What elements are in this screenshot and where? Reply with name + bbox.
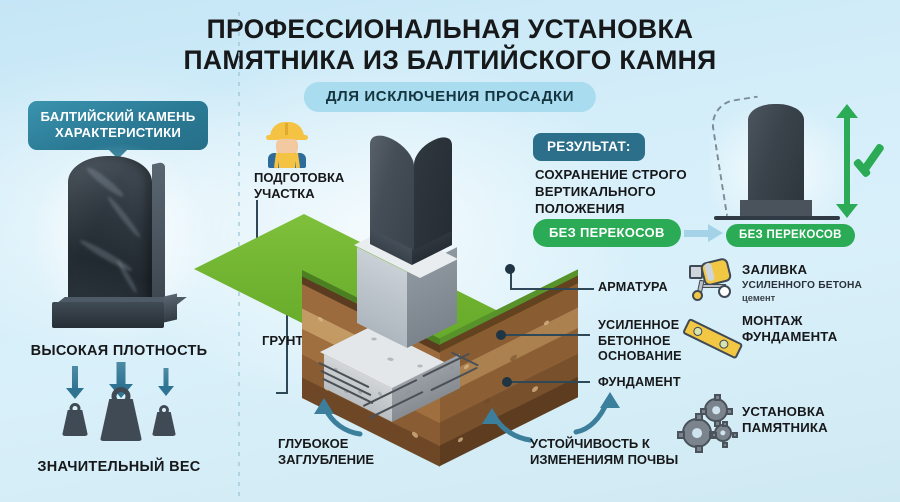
granite-monument-image	[46, 152, 194, 342]
down-arrow-left	[66, 366, 84, 400]
title-line-1: ПРОФЕССИОНАЛЬНАЯ УСТАНОВКА	[207, 14, 694, 44]
density-label: ВЫСОКАЯ ПЛОТНОСТЬ	[0, 343, 238, 359]
step-subtitle-2: цемент	[742, 292, 892, 303]
step-install-monument: УСТАНОВКА ПАМЯТНИКА	[742, 404, 892, 436]
weight-small-right	[152, 412, 176, 436]
weight-small-left	[62, 410, 88, 436]
no-tilt-pill-right: БЕЗ ПЕРЕКОСОВ	[726, 224, 855, 247]
no-tilt-pill-left: БЕЗ ПЕРЕКОСОВ	[533, 219, 681, 247]
step-subtitle: УСИЛЕННОГО БЕТОНА	[742, 280, 892, 291]
gear-medium	[704, 398, 728, 422]
infographic-root: ПРОФЕССИОНАЛЬНАЯ УСТАНОВКА ПАМЯТНИКА ИЗ …	[0, 0, 900, 502]
step-pour-concrete: ЗАЛИВКА УСИЛЕННОГО БЕТОНА цемент	[742, 262, 892, 303]
monument-side	[414, 131, 452, 250]
stone-characteristics-badge: БАЛТИЙСКИЙ КАМЕНЬ ХАРАКТЕРИСТИКИ	[28, 101, 208, 150]
deep-embedment-arrow	[310, 396, 366, 438]
concrete-mixer-icon	[688, 258, 736, 300]
down-arrow-right	[158, 368, 174, 400]
soil-stability-arrow-inner	[480, 408, 534, 444]
callout-foundation: ФУНДАМЕНТ	[598, 375, 681, 391]
step-title: МОНТАЖ ФУНДАМЕНТА	[742, 313, 892, 345]
soil-stability-arrow-outer	[570, 390, 628, 436]
result-badge: РЕЗУЛЬТАТ:	[533, 133, 645, 161]
monument-front-face	[68, 156, 152, 306]
monument-side-face	[152, 161, 165, 307]
ground-label: ГРУНТ	[262, 333, 303, 348]
title-line-2: ПАМЯТНИКА ИЗ БАЛТИЙСКОГО КАМНЯ	[0, 45, 900, 76]
deep-embedment-label: ГЛУБОКОЕ ЗАГЛУБЛЕНИЕ	[278, 436, 408, 469]
subtitle-badge: ДЛЯ ИСКЛЮЧЕНИЯ ПРОСАДКИ	[304, 82, 596, 112]
checkmark-icon	[856, 138, 896, 178]
gear-small	[714, 424, 732, 442]
step-mount-foundation: МОНТАЖ ФУНДАМЕНТА	[742, 313, 892, 345]
monument-base-front	[52, 302, 164, 328]
page-title: ПРОФЕССИОНАЛЬНАЯ УСТАНОВКА ПАМЯТНИКА ИЗ …	[0, 14, 900, 75]
rebar-leader	[510, 270, 594, 292]
badge-line-1: БАЛТИЙСКИЙ КАМЕНЬ	[34, 109, 202, 125]
gear-large	[682, 418, 712, 448]
weight-label: ЗНАЧИТЕЛЬНЫЙ ВЕС	[0, 459, 238, 475]
weight-large-center	[100, 399, 142, 441]
foundation-leader	[506, 381, 590, 385]
vertical-monument-proof	[700, 100, 896, 230]
gears-icon	[682, 398, 740, 452]
concrete-base-leader	[500, 334, 590, 338]
upright-monument-base	[740, 200, 812, 216]
weights-illustration	[52, 366, 188, 450]
callout-rebar: АРМАТУРА	[598, 280, 668, 296]
result-text: СОХРАНЕНИЕ СТРОГО ВЕРТИКАЛЬНОГО ПОЛОЖЕНИ…	[535, 167, 715, 218]
upright-monument	[748, 104, 804, 202]
monument-base-side	[164, 293, 177, 322]
step-title: ЗАЛИВКА	[742, 262, 892, 278]
monument-front	[370, 128, 414, 250]
badge-line-2: ХАРАКТЕРИСТИКИ	[34, 125, 202, 141]
step-title: УСТАНОВКА ПАМЯТНИКА	[742, 404, 892, 436]
ground-line	[714, 216, 840, 220]
